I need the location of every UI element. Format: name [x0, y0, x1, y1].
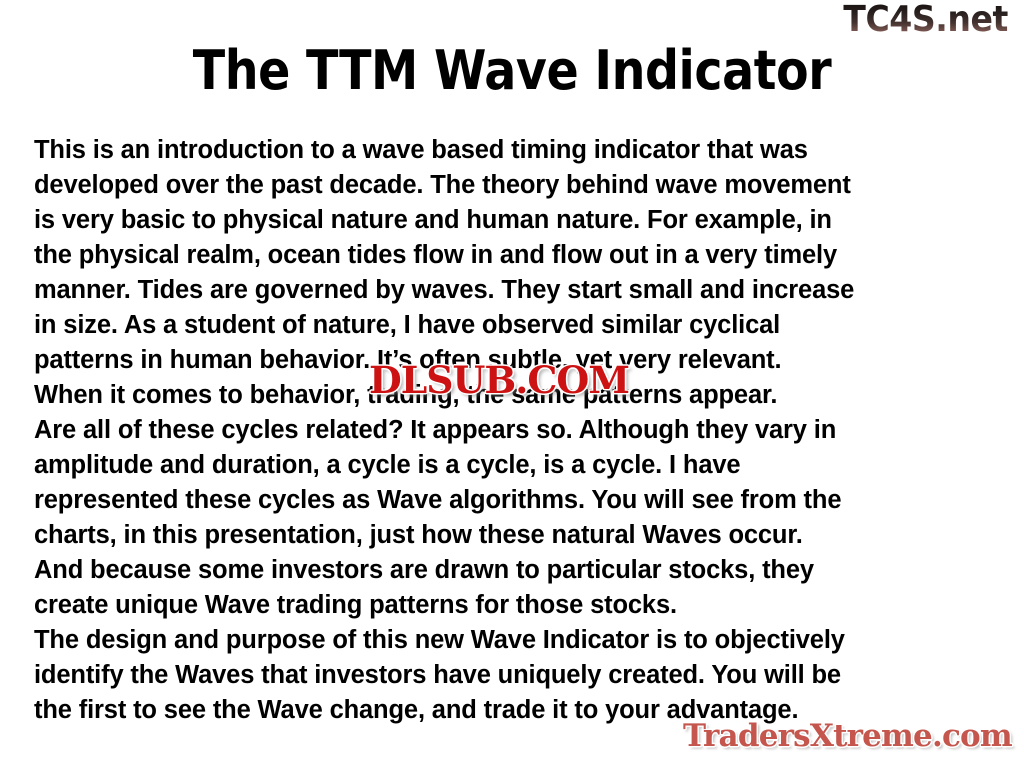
body-line: is very basic to physical nature and hum…: [34, 203, 994, 238]
slide-body-text: This is an introduction to a wave based …: [34, 133, 994, 728]
page-title: The TTM Wave Indicator: [61, 41, 962, 101]
body-line: charts, in this presentation, just how t…: [34, 518, 994, 553]
body-paragraph-2: The design and purpose of this new Wave …: [34, 623, 994, 728]
body-line: the physical realm, ocean tides flow in …: [34, 238, 994, 273]
body-line: manner. Tides are governed by waves. The…: [34, 273, 994, 308]
body-line: represented these cycles as Wave algorit…: [34, 483, 994, 518]
body-line: developed over the past decade. The theo…: [34, 168, 994, 203]
presentation-slide: TC4S.net The TTM Wave Indicator This is …: [0, 0, 1024, 768]
body-line: The design and purpose of this new Wave …: [34, 623, 994, 658]
body-line: in size. As a student of nature, I have …: [34, 308, 994, 343]
body-line: create unique Wave trading patterns for …: [34, 588, 994, 623]
tradersxtreme-watermark: TradersXtreme.com: [683, 719, 1012, 753]
body-line: Are all of these cycles related? It appe…: [34, 413, 994, 448]
body-line: This is an introduction to a wave based …: [34, 133, 994, 168]
body-line: identify the Waves that investors have u…: [34, 658, 994, 693]
dlsub-watermark: DLSUB.COM: [369, 362, 629, 399]
body-line: And because some investors are drawn to …: [34, 553, 994, 588]
body-line: amplitude and duration, a cycle is a cyc…: [34, 448, 994, 483]
tc4s-brand-logo: TC4S.net: [843, 2, 1008, 38]
